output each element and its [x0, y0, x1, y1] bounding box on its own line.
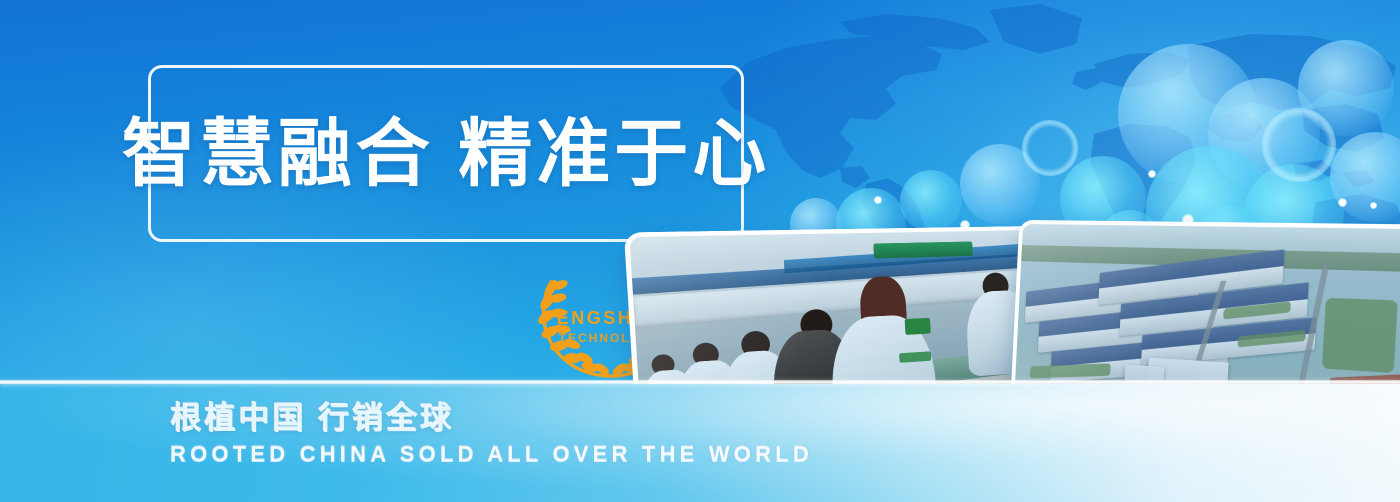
promo-banner: 智慧融合 精准于心	[0, 0, 1400, 502]
horizontal-divider	[0, 380, 1400, 384]
tagline-english: ROOTED CHINA SOLD ALL OVER THE WORLD	[170, 441, 813, 467]
page-title: 智慧融合 精准于心	[122, 117, 771, 191]
tagline-chinese: 根植中国 行销全球	[170, 392, 454, 437]
headline-box: 智慧融合 精准于心	[148, 65, 744, 242]
